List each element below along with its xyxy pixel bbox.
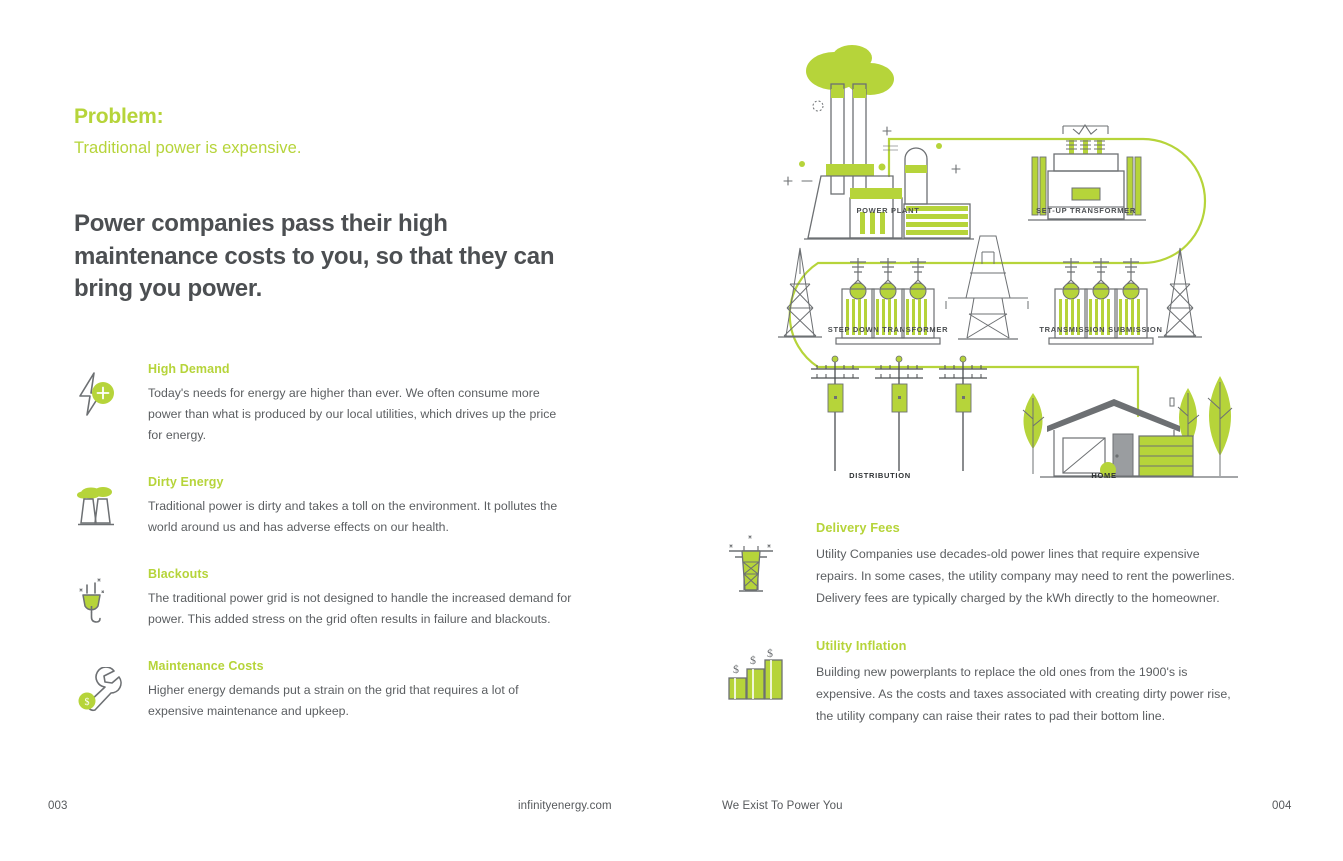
label-distribution: DISTRIBUTION	[849, 471, 911, 480]
feature-body: High Demand Today's needs for energy are…	[148, 362, 574, 446]
svg-text:$: $	[85, 697, 90, 708]
feature-body: Delivery Fees Utility Companies use deca…	[816, 520, 1244, 609]
feature-item-maintenance-costs: $ Maintenance Costs Higher energy demand…	[74, 659, 574, 722]
svg-text:$: $	[733, 662, 739, 676]
feature-text: Higher energy demands put a strain on th…	[148, 680, 574, 722]
label-home: HOME	[1091, 471, 1116, 480]
feature-title: Maintenance Costs	[148, 659, 574, 673]
pylon-center	[946, 236, 1028, 339]
grid-flow-path	[790, 139, 1205, 416]
feature-body: Blackouts The traditional power grid is …	[148, 567, 574, 630]
feature-title: Delivery Fees	[816, 520, 1244, 535]
svg-text:$: $	[767, 646, 773, 660]
feature-item-delivery-fees: Delivery Fees Utility Companies use deca…	[724, 520, 1244, 609]
dollar-bar-chart-icon: $ $ $	[724, 638, 816, 702]
feature-item-blackouts: Blackouts The traditional power grid is …	[74, 567, 574, 630]
svg-text:$: $	[750, 653, 756, 667]
feature-title: Utility Inflation	[816, 638, 1244, 653]
wrench-dollar-icon: $	[74, 659, 148, 715]
page-footer: 003 infinityenergy.com We Exist To Power…	[0, 800, 1343, 820]
feature-text: Utility Companies use decades-old power …	[816, 543, 1244, 609]
feature-title: Blackouts	[148, 567, 574, 581]
label-power-plant: POWER PLANT	[856, 206, 919, 215]
feature-item-high-demand: High Demand Today's needs for energy are…	[74, 362, 574, 446]
feature-text: Today's needs for energy are higher than…	[148, 383, 574, 446]
pylon-right	[1158, 248, 1202, 337]
label-step-down-transformer: STEP DOWN TRANSFORMER	[828, 325, 948, 334]
feature-item-dirty-energy: Dirty Energy Traditional power is dirty …	[74, 475, 574, 538]
unplugged-plug-icon	[74, 567, 148, 627]
feature-title: High Demand	[148, 362, 574, 376]
left-feature-list: High Demand Today's needs for energy are…	[74, 362, 574, 722]
cooling-tower-smoke-icon	[74, 475, 148, 531]
page-number-right: 004	[1272, 800, 1292, 812]
distribution-poles-illustration	[811, 356, 987, 471]
lightning-bolt-plus-icon	[74, 362, 148, 418]
feature-text: Traditional power is dirty and takes a t…	[148, 496, 574, 538]
feature-item-utility-inflation: $ $ $ Utility Inflation Building new pow…	[724, 638, 1244, 727]
label-step-up-transformer: SET-UP TRANSFORMER	[1036, 206, 1136, 215]
footer-tagline: We Exist To Power You	[722, 800, 843, 812]
feature-text: The traditional power grid is not design…	[148, 588, 574, 630]
feature-body: Dirty Energy Traditional power is dirty …	[148, 475, 574, 538]
label-transmission-submission: TRANSMISSION SUBMISSION	[1039, 325, 1162, 334]
headline-statement: Power companies pass their high maintena…	[74, 208, 564, 306]
home-illustration	[1023, 376, 1238, 478]
pylon-left	[778, 248, 822, 337]
website-url[interactable]: infinityenergy.com	[518, 800, 612, 812]
feature-text: Building new powerplants to replace the …	[816, 661, 1244, 727]
page-number-left: 003	[48, 800, 68, 812]
power-grid-flow-diagram: POWER PLANT SET-UP TRANSFORMER STEP DOWN…	[718, 26, 1278, 496]
page-subtitle: Traditional power is expensive.	[74, 139, 574, 158]
left-intro-block: Problem: Traditional power is expensive.…	[74, 104, 574, 306]
feature-body: Utility Inflation Building new powerplan…	[816, 638, 1244, 727]
page-title: Problem:	[74, 104, 574, 131]
transmission-tower-icon	[724, 520, 816, 594]
slide-page: Problem: Traditional power is expensive.…	[0, 0, 1343, 861]
feature-body: Maintenance Costs Higher energy demands …	[148, 659, 574, 722]
right-feature-list: Delivery Fees Utility Companies use deca…	[724, 520, 1244, 727]
feature-title: Dirty Energy	[148, 475, 574, 489]
